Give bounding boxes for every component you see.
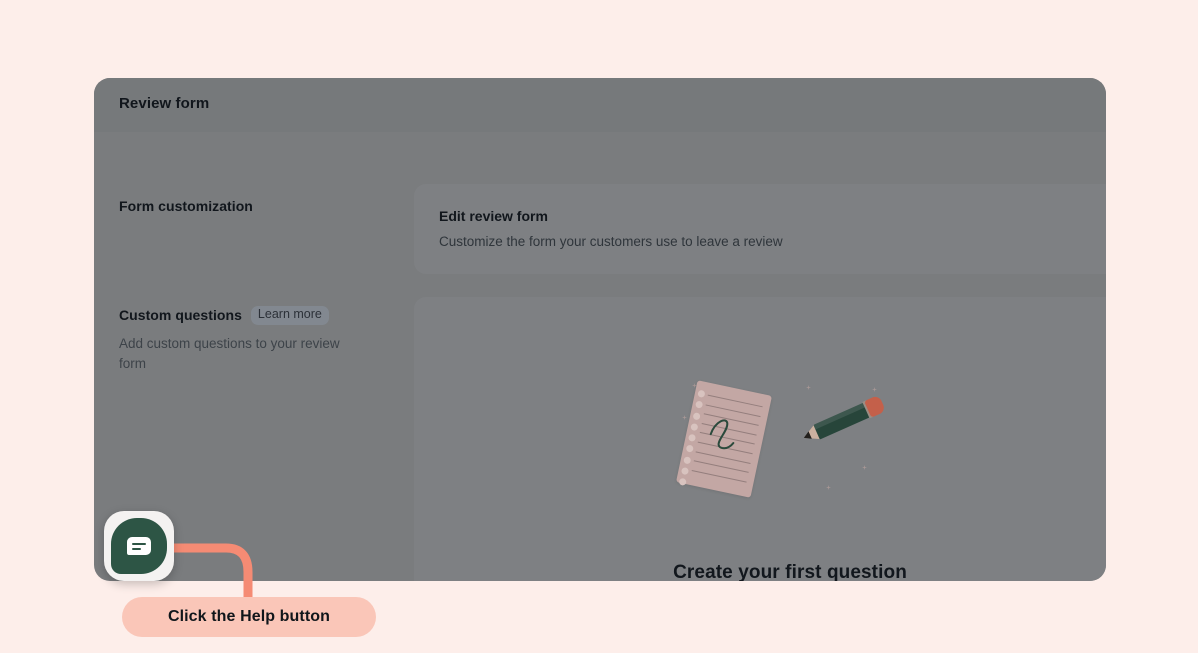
chat-bubble-icon (127, 537, 151, 555)
sparkle-icon (826, 485, 831, 490)
section-custom-questions: Custom questions Learn more Add custom q… (119, 306, 419, 374)
pencil-icon (797, 389, 892, 450)
sparkle-icon (862, 465, 867, 470)
empty-state: Create your first question Ask custom qu… (414, 297, 1106, 581)
empty-state-title: Create your first question (414, 562, 1106, 581)
notepad-icon (676, 380, 772, 498)
card-custom-questions: Create your first question Ask custom qu… (414, 297, 1106, 581)
notepad-and-pencil-illustration (676, 379, 896, 509)
section-title-row: Custom questions Learn more (119, 306, 419, 325)
dialog-header: Review form (94, 78, 1106, 132)
dialog-body: Form customization Custom questions Lear… (94, 132, 1106, 581)
card-title: Edit review form (439, 208, 548, 224)
card-edit-review-form[interactable]: Edit review form Customize the form your… (414, 184, 1106, 274)
help-button-bubble (111, 518, 167, 574)
page-title: Review form (119, 95, 209, 112)
card-subtitle: Customize the form your customers use to… (439, 234, 783, 249)
help-button[interactable] (104, 511, 174, 581)
callout-label: Click the Help button (168, 608, 330, 626)
section-description: Add custom questions to your review form (119, 334, 369, 374)
section-form-customization: Form customization (119, 198, 419, 214)
sparkle-icon (806, 385, 811, 390)
callout-tooltip[interactable]: Click the Help button (122, 597, 376, 637)
review-form-dialog: Review form Form customization Custom qu… (94, 78, 1106, 581)
section-title-row: Form customization (119, 198, 419, 214)
section-title: Form customization (119, 198, 253, 214)
learn-more-link[interactable]: Learn more (251, 306, 329, 325)
sparkle-icon (682, 415, 687, 420)
section-title: Custom questions (119, 307, 242, 323)
